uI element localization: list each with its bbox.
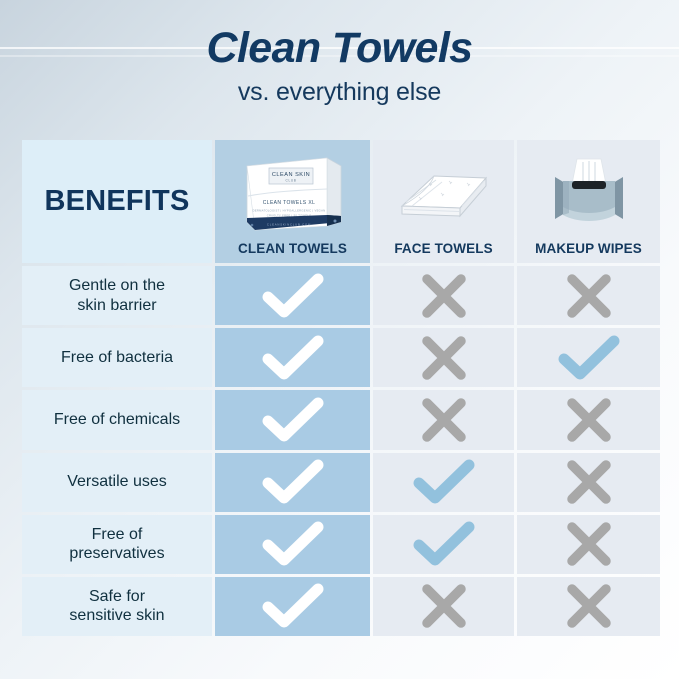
cell-makeup-wipes-row-6 — [517, 577, 660, 636]
cell-makeup-wipes-row-5 — [517, 515, 660, 574]
cell-face-towels-row-1 — [373, 266, 514, 325]
cell-face-towels-row-2 — [373, 328, 514, 387]
table-row: Free of chemicals — [22, 390, 657, 449]
benefit-label-1: Gentle on the skin barrier — [22, 266, 212, 325]
check-icon — [262, 582, 324, 630]
column-header-makeup-wipes: MAKEUP WIPES — [517, 140, 660, 263]
cross-icon — [564, 519, 614, 569]
cell-clean-towels-row-3 — [215, 390, 370, 449]
cell-clean-towels-row-5 — [215, 515, 370, 574]
cross-icon — [564, 457, 614, 507]
cell-face-towels-row-3 — [373, 390, 514, 449]
cell-makeup-wipes-row-4 — [517, 453, 660, 512]
comparison-table: BENEFITS CLEAN SKIN CLUB — [22, 140, 657, 636]
clean-towels-box-icon: CLEAN SKIN CLUB CLEAN TOWELS XL DERMATOL… — [215, 140, 370, 241]
cell-clean-towels-row-6 — [215, 577, 370, 636]
cell-clean-towels-row-4 — [215, 453, 370, 512]
svg-text:CLEAN TOWELS XL: CLEAN TOWELS XL — [262, 200, 315, 206]
check-icon — [262, 272, 324, 320]
cross-icon — [564, 395, 614, 445]
check-icon — [558, 334, 620, 382]
page-subtitle: vs. everything else — [0, 78, 679, 107]
check-icon — [262, 396, 324, 444]
table-row: Free of bacteria — [22, 328, 657, 387]
cell-face-towels-row-4 — [373, 453, 514, 512]
column-label-face-towels: FACE TOWELS — [394, 241, 492, 256]
cross-icon — [419, 271, 469, 321]
table-row: Safe for sensitive skin — [22, 577, 657, 636]
svg-text:CLEANSKINCLUB.COM: CLEANSKINCLUB.COM — [266, 222, 310, 226]
cross-icon — [419, 581, 469, 631]
check-icon — [413, 458, 475, 506]
page-title: Clean Towels — [0, 24, 679, 72]
wipes-packet-icon — [517, 140, 660, 241]
table-row: Versatile uses — [22, 453, 657, 512]
benefit-label-6: Safe for sensitive skin — [22, 577, 212, 636]
cell-clean-towels-row-2 — [215, 328, 370, 387]
benefit-label-4: Versatile uses — [22, 453, 212, 512]
benefit-label-2: Free of bacteria — [22, 328, 212, 387]
check-icon — [262, 334, 324, 382]
cell-clean-towels-row-1 — [215, 266, 370, 325]
benefits-header-label: BENEFITS — [45, 185, 190, 218]
cell-makeup-wipes-row-2 — [517, 328, 660, 387]
cross-icon — [419, 395, 469, 445]
cross-icon — [564, 271, 614, 321]
column-header-clean-towels: CLEAN SKIN CLUB CLEAN TOWELS XL DERMATOL… — [215, 140, 370, 263]
column-header-face-towels: FACE TOWELS — [373, 140, 514, 263]
svg-text:DERMATOLOGIST | HYPOALLERGEN: DERMATOLOGIST | HYPOALLERGENIC | VEGAN — [252, 208, 325, 212]
cross-icon — [564, 581, 614, 631]
benefits-header-cell: BENEFITS — [22, 140, 212, 263]
benefit-label-5: Free of preservatives — [22, 515, 212, 574]
cell-makeup-wipes-row-3 — [517, 390, 660, 449]
check-icon — [262, 458, 324, 506]
check-icon — [262, 520, 324, 568]
cell-makeup-wipes-row-1 — [517, 266, 660, 325]
svg-text:CLUB: CLUB — [285, 178, 296, 182]
column-label-makeup-wipes: MAKEUP WIPES — [535, 241, 642, 256]
check-icon — [413, 520, 475, 568]
table-row: Gentle on the skin barrier — [22, 266, 657, 325]
page-header: Clean Towels vs. everything else — [0, 24, 679, 107]
cell-face-towels-row-5 — [373, 515, 514, 574]
svg-text:CLEAN SKIN: CLEAN SKIN — [271, 172, 309, 178]
folded-towel-icon — [373, 140, 514, 241]
table-body: Gentle on the skin barrierFree of bacter… — [22, 266, 657, 636]
benefit-label-3: Free of chemicals — [22, 390, 212, 449]
cell-face-towels-row-6 — [373, 577, 514, 636]
cross-icon — [419, 333, 469, 383]
table-header-row: BENEFITS CLEAN SKIN CLUB — [22, 140, 657, 263]
table-row: Free of preservatives — [22, 515, 657, 574]
column-label-clean-towels: CLEAN TOWELS — [238, 241, 347, 256]
